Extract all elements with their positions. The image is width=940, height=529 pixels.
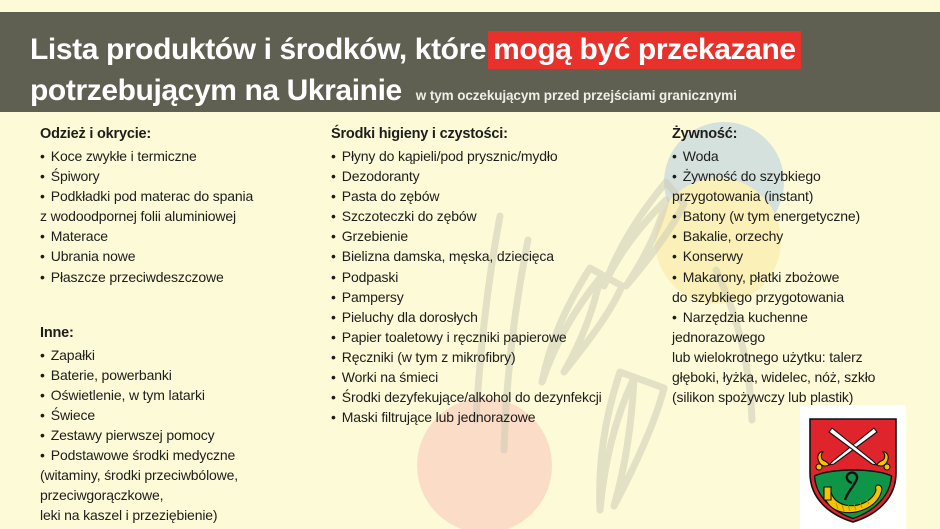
- list-item: Zapałki: [40, 345, 315, 365]
- column-food: Żywność: Woda Żywność do szybkiego przyg…: [672, 126, 922, 407]
- list-item-continuation: przeciwgorączkowe,: [40, 485, 315, 505]
- list-item: Bielizna damska, męska, dziecięca: [331, 246, 661, 266]
- column-clothing-and-other: Odzież i okrycie: Koce zwykłe i termiczn…: [40, 126, 315, 526]
- header-bar: Lista produktów i środków, któremogą być…: [0, 12, 940, 112]
- columns-area: Odzież i okrycie: Koce zwykłe i termiczn…: [0, 112, 940, 529]
- poster-root: Lista produktów i środków, któremogą być…: [0, 0, 940, 529]
- list-item: Maski filtrujące lub jednorazowe: [331, 407, 661, 427]
- list-item-continuation: z wodoodpornej folii aluminiowej: [40, 206, 315, 226]
- list-item: Zestawy pierwszej pomocy: [40, 425, 315, 445]
- page-subtitle: w tym oczekującym przed przejściami gran…: [416, 88, 737, 103]
- list-item: Pampersy: [331, 287, 661, 307]
- section-heading-zywnosc: Żywność:: [672, 126, 922, 142]
- section-heading-odziez: Odzież i okrycie:: [40, 126, 315, 142]
- list-item: Podpaski: [331, 267, 661, 287]
- section-heading-higiena: Środki higieny i czystości:: [331, 126, 661, 142]
- list-item-continuation: głęboki, łyżka, widelec, nóż, szkło: [672, 367, 922, 387]
- section-heading-inne: Inne:: [40, 325, 315, 341]
- list-item: Szczoteczki do zębów: [331, 206, 661, 226]
- list-item: Żywność do szybkiego: [672, 166, 922, 186]
- list-item: Płaszcze przeciwdeszczowe: [40, 267, 315, 287]
- list-item: Papier toaletowy i ręczniki papierowe: [331, 327, 661, 347]
- list-item: Podkładki pod materac do spania: [40, 186, 315, 206]
- list-item-continuation: leki na kaszel i przeziębienie): [40, 505, 315, 525]
- list-item-continuation: przygotowania (instant): [672, 186, 922, 206]
- list-item: Środki dezyfekujące/alkohol do dezynfekc…: [331, 387, 661, 407]
- list-item: Płyny do kąpieli/pod prysznic/mydło: [331, 146, 661, 166]
- list-item: Dezodoranty: [331, 166, 661, 186]
- title-text-part2: potrzebującym na Ukrainie: [30, 74, 402, 108]
- list-inne: Zapałki Baterie, powerbanki Oświetlenie,…: [40, 345, 315, 526]
- list-item: Narzędzia kuchenne: [672, 307, 922, 327]
- list-item: Pasta do zębów: [331, 186, 661, 206]
- list-item: Woda: [672, 146, 922, 166]
- page-title-line-2: potrzebującym na Ukrainie w tym oczekują…: [30, 74, 737, 108]
- list-item: Makarony, płatki zbożowe: [672, 267, 922, 287]
- column-hygiene: Środki higieny i czystości: Płyny do kąp…: [331, 126, 661, 427]
- list-item-continuation: (witaminy, środki przeciwbólowe,: [40, 465, 315, 485]
- list-item: Koce zwykłe i termiczne: [40, 146, 315, 166]
- list-item: Batony (w tym energetyczne): [672, 206, 922, 226]
- list-odziez: Koce zwykłe i termiczne Śpiwory Podkładk…: [40, 146, 315, 287]
- list-higiena: Płyny do kąpieli/pod prysznic/mydło Dezo…: [331, 146, 661, 427]
- list-item-continuation: jednorazowego: [672, 327, 922, 347]
- coat-of-arms-icon: [800, 405, 906, 529]
- list-item: Ubrania nowe: [40, 246, 315, 266]
- list-item: Grzebienie: [331, 226, 661, 246]
- list-item: Konserwy: [672, 246, 922, 266]
- list-item: Podstawowe środki medyczne: [40, 445, 315, 465]
- list-item: Ręczniki (w tym z mikrofibry): [331, 347, 661, 367]
- list-item-continuation: lub wielokrotnego użytku: talerz: [672, 347, 922, 367]
- list-item: Bakalie, orzechy: [672, 226, 922, 246]
- list-item: Worki na śmieci: [331, 367, 661, 387]
- coat-of-arms: [800, 405, 906, 529]
- list-item: Materace: [40, 226, 315, 246]
- section-spacer: [40, 287, 315, 325]
- list-item: Oświetlenie, w tym latarki: [40, 385, 315, 405]
- list-zywnosc: Woda Żywność do szybkiego przygotowania …: [672, 146, 922, 407]
- title-highlight: mogą być przekazane: [488, 31, 801, 69]
- page-title-line-1: Lista produktów i środków, któremogą być…: [30, 33, 801, 67]
- list-item: Świece: [40, 405, 315, 425]
- list-item: Śpiwory: [40, 166, 315, 186]
- list-item-continuation: do szybkiego przygotowania: [672, 287, 922, 307]
- list-item: Baterie, powerbanki: [40, 365, 315, 385]
- title-text-part1: Lista produktów i środków, które: [30, 33, 486, 66]
- list-item: Pieluchy dla dorosłych: [331, 307, 661, 327]
